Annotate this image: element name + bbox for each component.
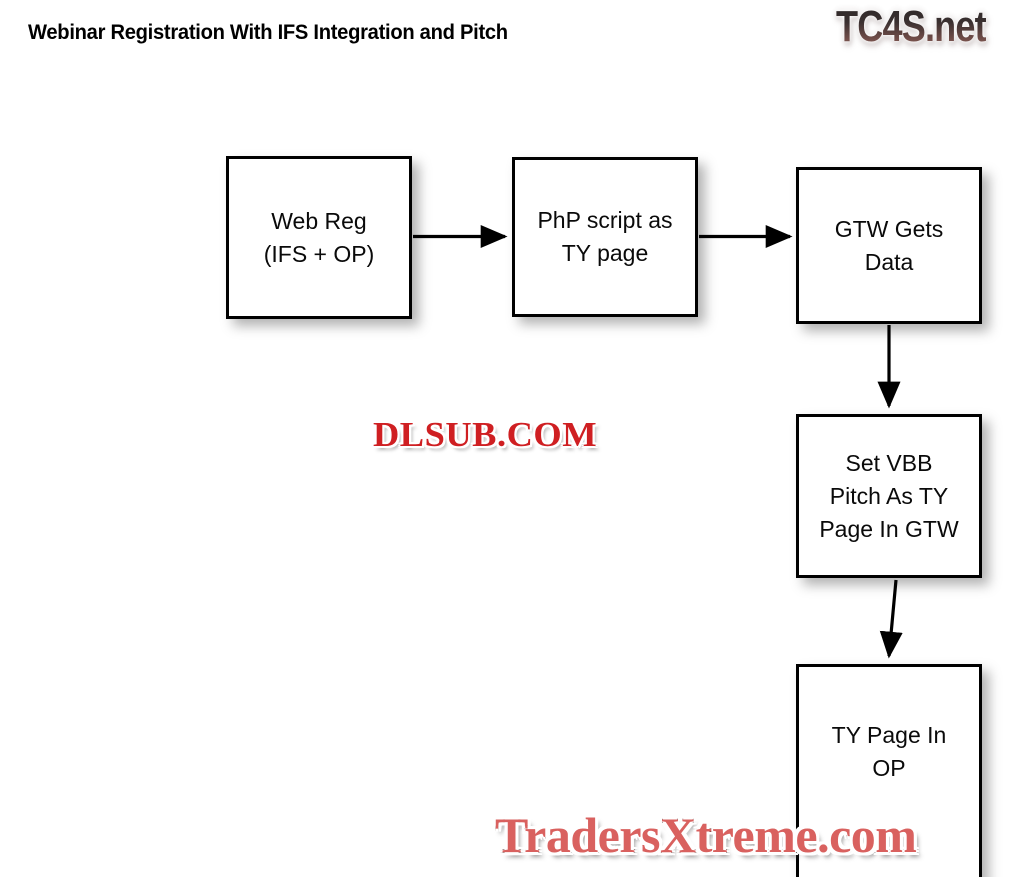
diagram-canvas: Webinar Registration With IFS Integratio…	[0, 0, 1024, 877]
flowchart-node-gtw-gets-data[interactable]: GTW Gets Data	[796, 167, 982, 324]
connector-set-vbb-to-ty-page-op	[889, 580, 896, 656]
watermark-dlsub-com: DLSUB.COM	[373, 415, 597, 455]
page-title: Webinar Registration With IFS Integratio…	[28, 21, 508, 45]
watermark-tc4s-net: TC4S.net	[836, 2, 986, 52]
watermark-tradersxtreme-com: TradersXtreme.com	[495, 806, 916, 864]
flowchart-node-php-script[interactable]: PhP script as TY page	[512, 157, 698, 317]
flowchart-node-set-vbb-pitch[interactable]: Set VBB Pitch As TY Page In GTW	[796, 414, 982, 578]
flowchart-node-web-reg[interactable]: Web Reg (IFS + OP)	[226, 156, 412, 319]
